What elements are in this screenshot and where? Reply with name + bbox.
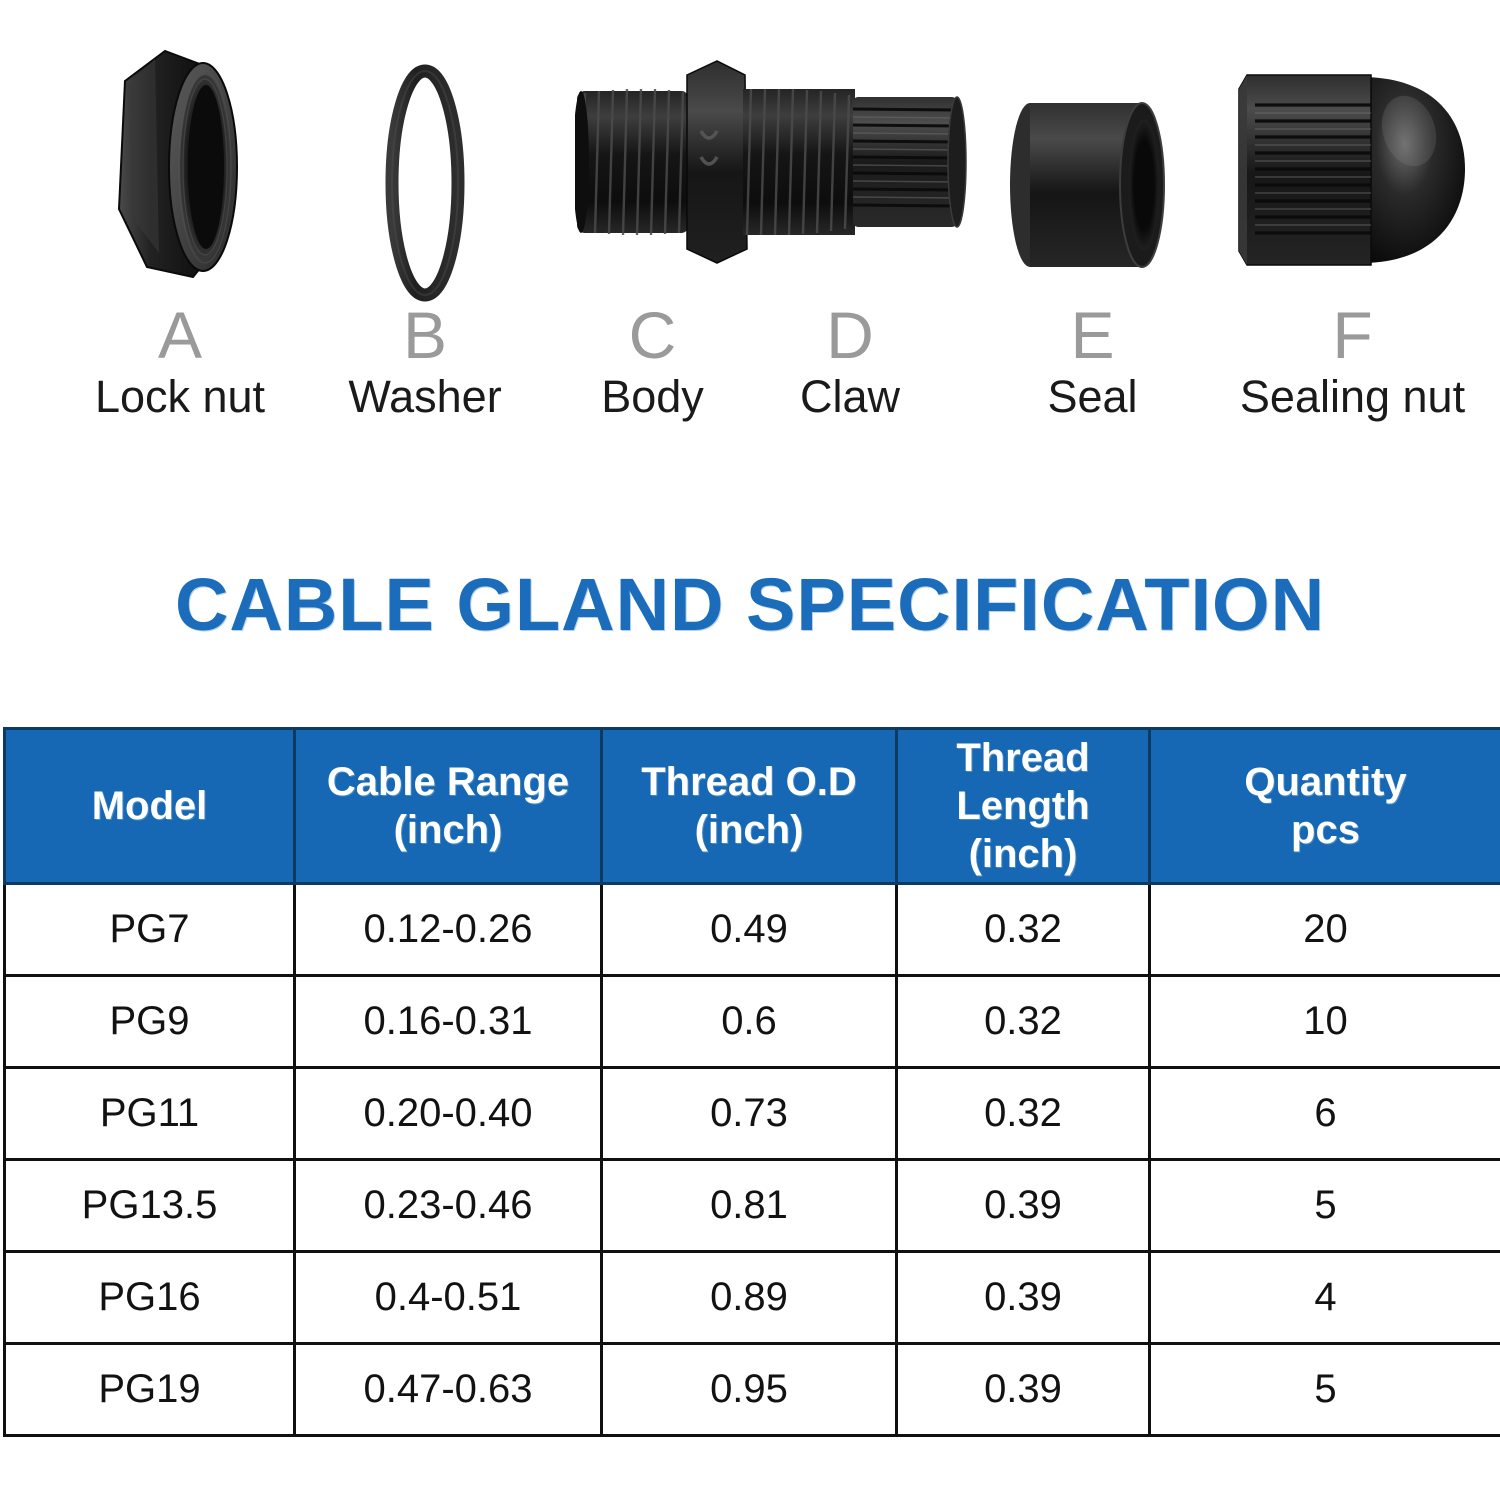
cell-quantity: 6: [1150, 1068, 1500, 1160]
part-name: Lock nut: [55, 370, 305, 424]
cell-quantity: 10: [1150, 976, 1500, 1068]
header-line1: Thread O.D: [641, 760, 857, 804]
cell-model: PG7: [5, 884, 295, 976]
cell-model: PG9: [5, 976, 295, 1068]
domed-sealing-nut-icon: [1233, 61, 1473, 286]
body-art: [545, 25, 760, 300]
part-letter: F: [1215, 300, 1490, 370]
cell-quantity: 5: [1150, 1344, 1500, 1436]
lock-nut-art: [55, 25, 305, 300]
table-header: Model Cable Range (inch) Thread O.D (inc…: [5, 729, 1500, 884]
part-name: Sealing nut: [1215, 370, 1490, 424]
cell-cable-range: 0.20-0.40: [295, 1068, 602, 1160]
part-body: C Body: [545, 25, 760, 424]
claw-art: [755, 25, 945, 300]
part-name: Seal: [985, 370, 1200, 424]
cell-cable-range: 0.47-0.63: [295, 1344, 602, 1436]
cell-thread-length: 0.32: [897, 884, 1150, 976]
cell-thread-od: 0.73: [602, 1068, 897, 1160]
sealing-nut-art: [1215, 25, 1490, 300]
table-row: PG11 0.20-0.40 0.73 0.32 6: [5, 1068, 1500, 1160]
part-letter: A: [55, 300, 305, 370]
column-header-thread-od: Thread O.D (inch): [602, 729, 897, 884]
header-line2: (inch): [609, 806, 889, 854]
header-line1: Model: [92, 784, 208, 828]
cell-thread-length: 0.32: [897, 976, 1150, 1068]
table-row: PG13.5 0.23-0.46 0.81 0.39 5: [5, 1160, 1500, 1252]
o-ring-washer-icon: [380, 63, 470, 308]
part-name: Body: [545, 370, 760, 424]
column-header-thread-length: Thread Length (inch): [897, 729, 1150, 884]
cell-quantity: 5: [1150, 1160, 1500, 1252]
cell-thread-od: 0.89: [602, 1252, 897, 1344]
header-line1: Cable Range: [327, 760, 569, 804]
part-lock-nut: A Lock nut: [55, 25, 305, 424]
part-seal: E Seal: [985, 25, 1200, 424]
part-letter: D: [755, 300, 945, 370]
cell-thread-length: 0.32: [897, 1068, 1150, 1160]
washer-art: [300, 25, 550, 300]
table-row: PG9 0.16-0.31 0.6 0.32 10: [5, 976, 1500, 1068]
table-header-row: Model Cable Range (inch) Thread O.D (inc…: [5, 729, 1500, 884]
header-line2: pcs: [1157, 806, 1494, 854]
table-row: PG16 0.4-0.51 0.89 0.39 4: [5, 1252, 1500, 1344]
part-sealing-nut: F Sealing nut: [1215, 25, 1490, 424]
cell-thread-od: 0.49: [602, 884, 897, 976]
cell-model: PG11: [5, 1068, 295, 1160]
cell-thread-od: 0.81: [602, 1160, 897, 1252]
product-spec-page: A Lock nut: [0, 0, 1500, 1500]
part-name: Washer: [300, 370, 550, 424]
cell-thread-od: 0.6: [602, 976, 897, 1068]
cell-quantity: 4: [1150, 1252, 1500, 1344]
rubber-seal-sleeve-icon: [1008, 97, 1178, 277]
hex-lock-nut-icon: [95, 39, 265, 299]
cell-cable-range: 0.4-0.51: [295, 1252, 602, 1344]
table-row: PG7 0.12-0.26 0.49 0.32 20: [5, 884, 1500, 976]
column-header-quantity: Quantity pcs: [1150, 729, 1500, 884]
cell-cable-range: 0.16-0.31: [295, 976, 602, 1068]
cell-cable-range: 0.23-0.46: [295, 1160, 602, 1252]
cell-model: PG19: [5, 1344, 295, 1436]
page-title: CABLE GLAND SPECIFICATION: [0, 562, 1500, 647]
table-row: PG19 0.47-0.63 0.95 0.39 5: [5, 1344, 1500, 1436]
header-line2: (inch): [904, 830, 1142, 878]
cell-model: PG13.5: [5, 1160, 295, 1252]
header-line1: Quantity: [1244, 760, 1406, 804]
table-body: PG7 0.12-0.26 0.49 0.32 20 PG9 0.16-0.31…: [5, 884, 1500, 1436]
cell-quantity: 20: [1150, 884, 1500, 976]
threaded-body-icon: [545, 53, 760, 273]
column-header-model: Model: [5, 729, 295, 884]
header-line2: (inch): [302, 806, 594, 854]
cell-thread-od: 0.95: [602, 1344, 897, 1436]
part-name: Claw: [755, 370, 945, 424]
part-letter: B: [300, 300, 550, 370]
cable-gland-spec-table: Model Cable Range (inch) Thread O.D (inc…: [3, 727, 1500, 1437]
part-claw: D Claw: [755, 25, 945, 424]
part-letter: C: [545, 300, 760, 370]
spec-table-container: Model Cable Range (inch) Thread O.D (inc…: [3, 727, 1500, 1437]
part-washer: B Washer: [300, 25, 550, 424]
cell-cable-range: 0.12-0.26: [295, 884, 602, 976]
parts-exploded-diagram: A Lock nut: [0, 0, 1500, 460]
cell-thread-length: 0.39: [897, 1344, 1150, 1436]
seal-art: [985, 25, 1200, 300]
cell-model: PG16: [5, 1252, 295, 1344]
cell-thread-length: 0.39: [897, 1252, 1150, 1344]
part-letter: E: [985, 300, 1200, 370]
column-header-cable-range: Cable Range (inch): [295, 729, 602, 884]
header-line1: Thread Length: [956, 736, 1089, 828]
cell-thread-length: 0.39: [897, 1160, 1150, 1252]
